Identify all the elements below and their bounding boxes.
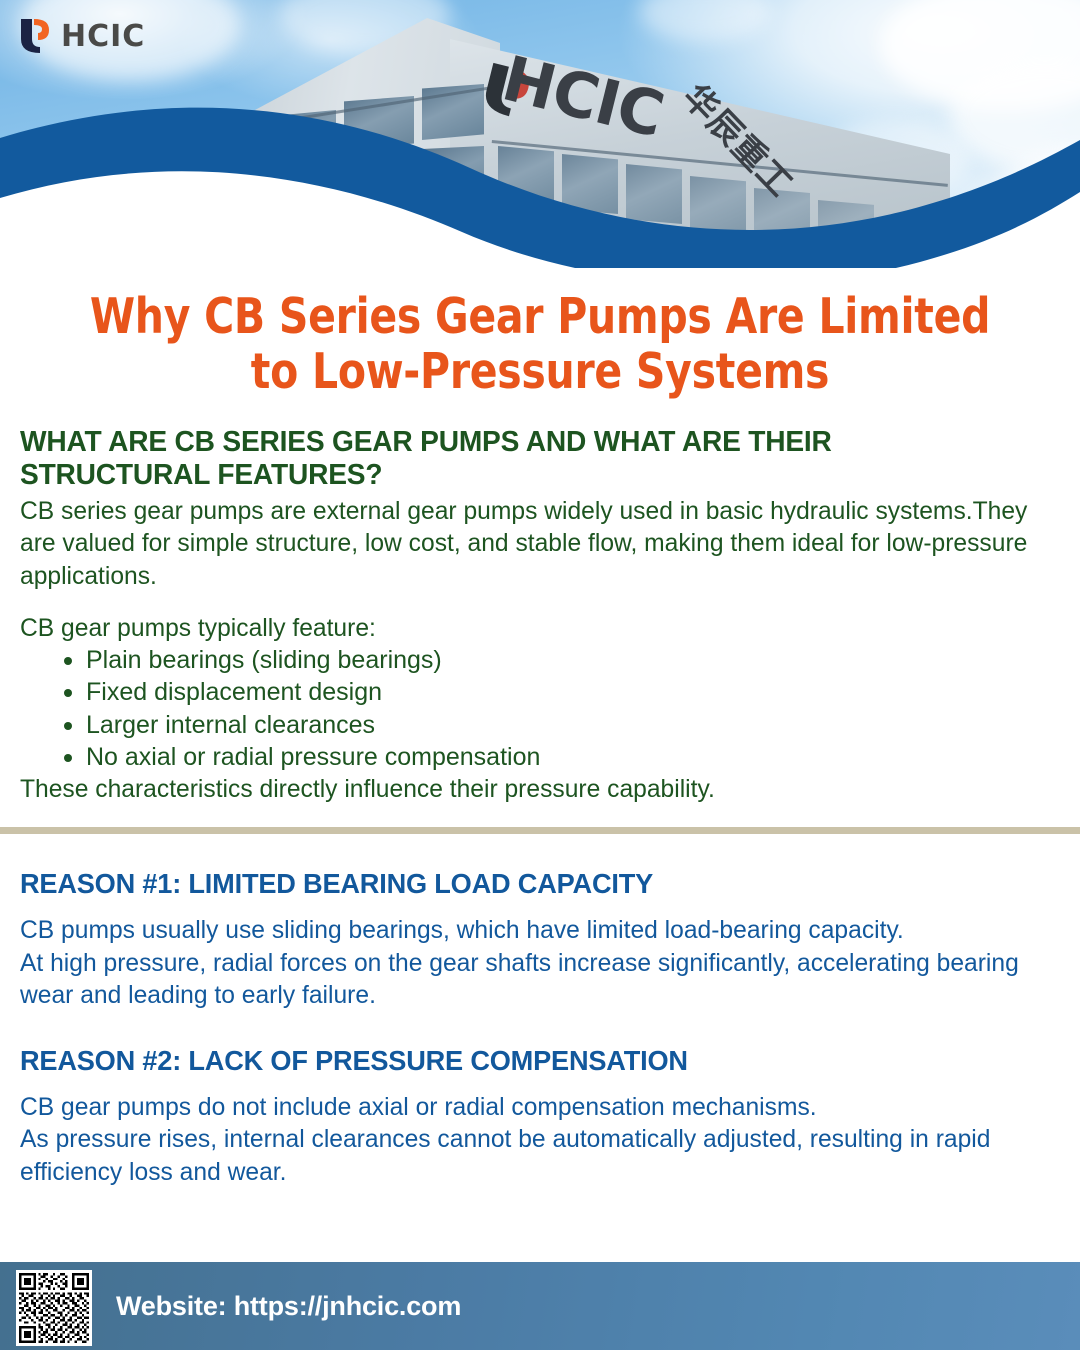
qr-code-container[interactable] [16, 1270, 92, 1346]
qr-code-icon[interactable] [19, 1273, 89, 1343]
intro-heading: WHAT ARE CB SERIES GEAR PUMPS AND WHAT A… [20, 426, 1029, 493]
list-item: Larger internal clearances [60, 709, 1060, 741]
window-panel [818, 200, 874, 254]
building-illustration: HCIC 华辰重工 [240, 18, 940, 268]
window-panel [422, 146, 484, 206]
window-panel [626, 164, 682, 224]
reason-1-body: CB pumps usually use sliding bearings, w… [20, 914, 1044, 1011]
features-list-intro: CB gear pumps typically feature: [20, 612, 1044, 644]
roof-antenna [979, 193, 983, 206]
brand-logo: HCIC [18, 18, 145, 54]
hero-banner: HCIC 华辰重工 HCIC [0, 0, 1080, 268]
hero-photo: HCIC 华辰重工 [0, 0, 1080, 268]
reason-2-heading: REASON #2: LACK OF PRESSURE COMPENSATION [20, 1045, 1029, 1077]
brand-logo-text: HCIC [61, 19, 145, 54]
page-title: Why CB Series Gear Pumps Are Limited to … [56, 290, 1023, 400]
intro-lead-paragraph: CB series gear pumps are external gear p… [20, 495, 1044, 592]
section-divider [0, 827, 1080, 834]
reason-block-2: REASON #2: LACK OF PRESSURE COMPENSATION… [20, 1045, 1060, 1188]
hcic-logo-mark-icon [18, 18, 52, 54]
list-item: Plain bearings (sliding bearings) [60, 644, 1060, 676]
window-panel [690, 176, 746, 234]
window-panel [344, 156, 414, 214]
features-bullet-list: Plain bearings (sliding bearings) Fixed … [20, 644, 1060, 773]
footer-website-label[interactable]: Website: https://jnhcic.com [116, 1291, 461, 1322]
window-panel [270, 168, 336, 224]
list-item: Fixed displacement design [60, 676, 1060, 708]
window-panel [562, 154, 618, 214]
reason-1-heading: REASON #1: LIMITED BEARING LOAD CAPACITY [20, 868, 1029, 900]
page-title-line-1: Why CB Series Gear Pumps Are Limited [56, 290, 1023, 345]
intro-section: WHAT ARE CB SERIES GEAR PUMPS AND WHAT A… [0, 400, 1080, 806]
page-title-line-2: to Low-Pressure Systems [56, 345, 1023, 400]
footer-bar: Website: https://jnhcic.com [0, 1262, 1080, 1350]
reason-2-body: CB gear pumps do not include axial or ra… [20, 1091, 1044, 1188]
list-item: No axial or radial pressure compensation [60, 741, 1060, 773]
reasons-section: REASON #1: LIMITED BEARING LOAD CAPACITY… [0, 834, 1080, 1188]
window-panel [498, 146, 554, 204]
intro-closing-paragraph: These characteristics directly influence… [20, 773, 1044, 805]
reason-block-1: REASON #1: LIMITED BEARING LOAD CAPACITY… [20, 868, 1060, 1011]
